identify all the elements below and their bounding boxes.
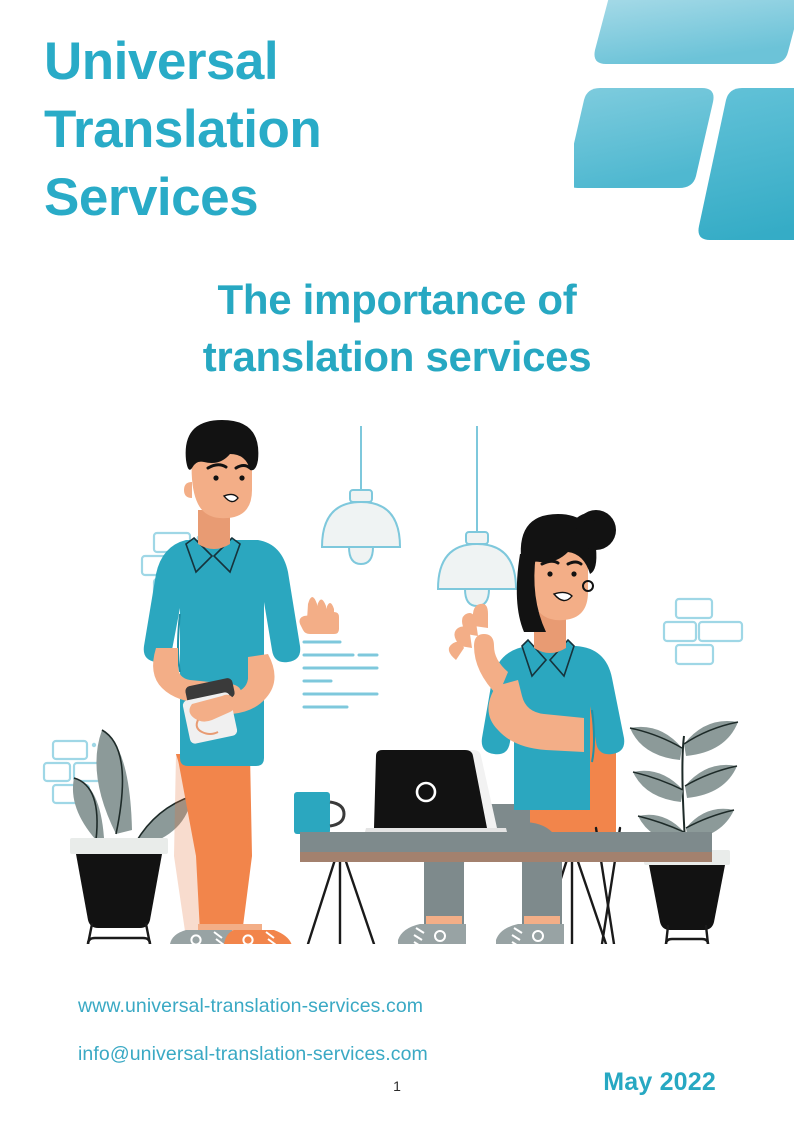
shoe-right-woman	[496, 924, 564, 944]
page-title-line-1: The importance of	[70, 272, 724, 329]
company-name-line-1: Universal	[44, 28, 464, 96]
floating-text-lines	[300, 597, 378, 707]
logo-shape-right	[698, 88, 794, 240]
page-title: The importance of translation services	[70, 272, 724, 385]
page-number: 1	[0, 1078, 794, 1094]
logo-shape-top	[594, 0, 794, 64]
cover-illustration: .skin { fill:#F3AE87; } .skinD { fill:#E…	[36, 404, 758, 944]
pointing-hand-icon	[300, 597, 340, 634]
universal-translation-services-logo	[574, 0, 794, 250]
pendant-lamp-right	[438, 426, 516, 606]
pendant-lamp-left	[322, 426, 400, 564]
page-title-line-2: translation services	[70, 329, 724, 386]
shoe-right	[224, 930, 293, 944]
company-name: Universal Translation Services	[44, 28, 464, 231]
logo-shape-left	[574, 88, 714, 188]
cover-page: Universal Translation Services The impor…	[0, 0, 794, 1123]
shoe-left	[170, 930, 232, 944]
laptop	[364, 750, 508, 836]
company-name-line-3: Services	[44, 164, 464, 232]
website-url[interactable]: www.universal-translation-services.com	[78, 995, 423, 1018]
shoe-left-woman	[398, 924, 466, 944]
coffee-mug	[294, 792, 344, 834]
standing-man	[144, 420, 301, 944]
email-address[interactable]: info@universal-translation-services.com	[78, 1043, 428, 1066]
decorative-rectangles-right	[664, 599, 742, 664]
desk	[300, 832, 712, 862]
company-name-line-2: Translation	[44, 96, 464, 164]
